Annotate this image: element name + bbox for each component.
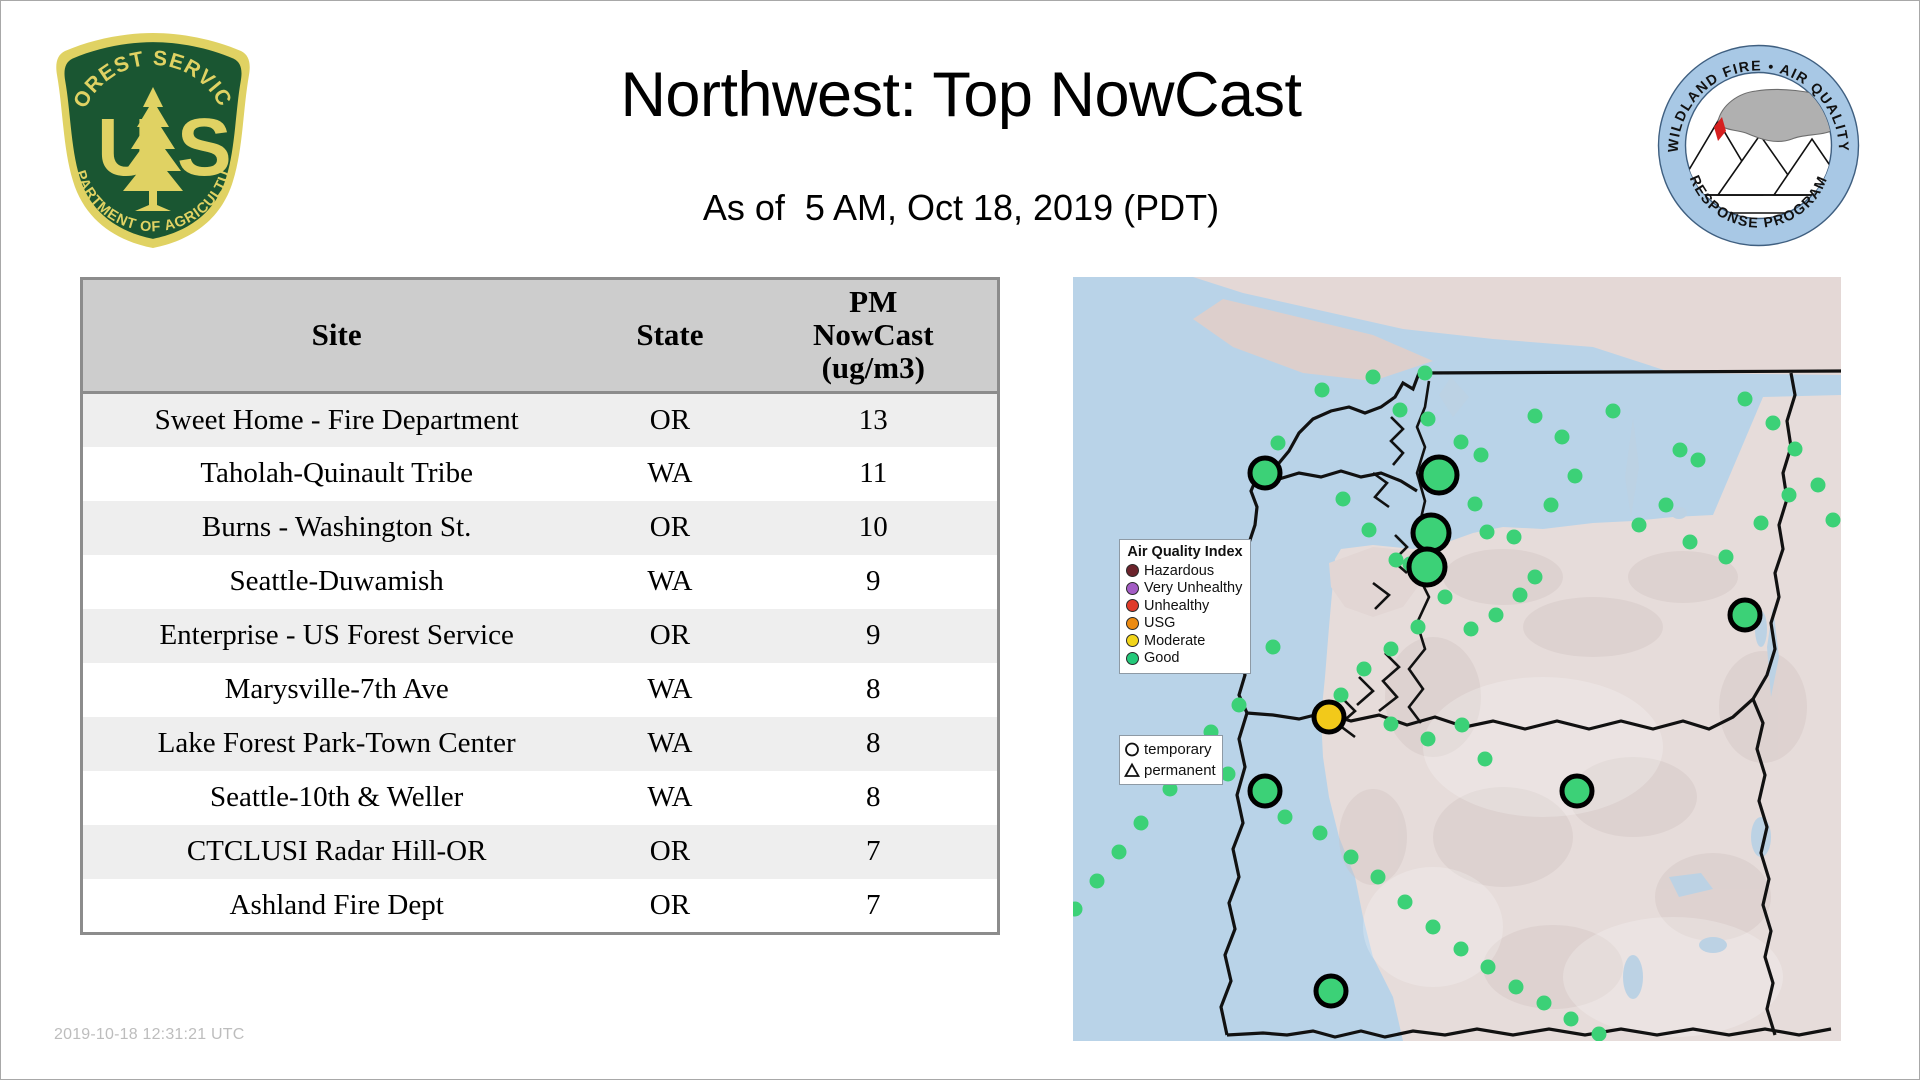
monitor-marker-good[interactable] [1811, 478, 1826, 493]
footer-timestamp: 2019-10-18 12:31:21 UTC [54, 1026, 245, 1044]
monitor-marker-good[interactable] [1507, 530, 1522, 545]
table-row: Seattle-10th & WellerWA8 [82, 771, 999, 825]
monitor-marker-good[interactable] [1344, 850, 1359, 865]
monitor-marker-good[interactable] [1537, 996, 1552, 1011]
monitor-marker-good[interactable] [1555, 430, 1570, 445]
monitor-marker-good[interactable] [1384, 717, 1399, 732]
table-row: Seattle-DuwamishWA9 [82, 555, 999, 609]
monitor-marker-good[interactable] [1232, 698, 1247, 713]
state-cell: OR [590, 392, 749, 447]
legend-row-temporary: temporary [1124, 739, 1218, 760]
nowcast-table: Site State PM NowCast (ug/m3) Sweet Home… [80, 277, 1000, 935]
aqi-legend-label: Moderate [1144, 633, 1205, 649]
monitor-marker-good[interactable] [1480, 525, 1495, 540]
table-body: Sweet Home - Fire DepartmentOR13Taholah-… [82, 392, 999, 934]
monitor-marker-good[interactable] [1528, 570, 1543, 585]
aqi-swatch-icon [1126, 652, 1139, 665]
table-row: Burns - Washington St.OR10 [82, 501, 999, 555]
aqi-swatch-icon [1126, 634, 1139, 647]
monitor-marker-good[interactable] [1474, 448, 1489, 463]
monitor-marker-good[interactable] [1568, 469, 1583, 484]
monitor-marker-good[interactable] [1426, 920, 1441, 935]
monitor-marker-good[interactable] [1313, 826, 1328, 841]
monitor-marker-good[interactable] [1421, 732, 1436, 747]
monitor-marker-good[interactable] [1393, 403, 1408, 418]
monitor-marker-good[interactable] [1362, 523, 1377, 538]
legend-row-permanent: permanent [1124, 760, 1218, 781]
monitor-marker-good[interactable] [1398, 895, 1413, 910]
site-cell: Taholah-Quinault Tribe [82, 447, 591, 501]
pm-cell: 13 [750, 392, 999, 447]
pm-cell: 8 [750, 771, 999, 825]
table-row: Ashland Fire DeptOR7 [82, 879, 999, 934]
aqi-legend-row: Very Unhealthy [1126, 580, 1244, 598]
monitor-marker-good[interactable] [1278, 810, 1293, 825]
state-cell: OR [590, 825, 749, 879]
monitor-marker-good[interactable] [1418, 366, 1433, 381]
site-cell: Ashland Fire Dept [82, 879, 591, 934]
monitor-marker-good[interactable] [1112, 845, 1127, 860]
monitor-marker-good[interactable] [1454, 942, 1469, 957]
aqi-legend-label: Hazardous [1144, 563, 1214, 579]
monitor-type-legend: temporary permanent [1119, 735, 1223, 785]
pm-cell: 9 [750, 555, 999, 609]
monitor-marker-good[interactable] [1366, 370, 1381, 385]
monitor-marker-good[interactable] [1738, 392, 1753, 407]
nowcast-table-container: Site State PM NowCast (ug/m3) Sweet Home… [80, 277, 1000, 935]
monitor-marker-good[interactable] [1454, 435, 1469, 450]
aqi-legend-label: Good [1144, 650, 1179, 666]
monitor-marker-good[interactable] [1673, 443, 1688, 458]
wildland-fire-air-quality-badge-icon: WILDLAND FIRE • AIR QUALITY RESPONSE PRO… [1656, 43, 1861, 248]
state-cell: WA [590, 717, 749, 771]
pm-cell: 9 [750, 609, 999, 663]
aqi-swatch-icon [1126, 564, 1139, 577]
pm-cell: 8 [750, 663, 999, 717]
air-quality-index-legend: Air Quality Index HazardousVery Unhealth… [1119, 539, 1251, 674]
aqi-legend-row: USG [1126, 615, 1244, 633]
pm-cell: 7 [750, 879, 999, 934]
circle-marker-icon [1124, 741, 1140, 758]
monitor-marker-good[interactable] [1438, 590, 1453, 605]
highlight-marker-marysville[interactable] [1421, 457, 1457, 493]
highlight-marker-ctclusi-radar-hill[interactable] [1250, 776, 1280, 806]
site-cell: Lake Forest Park-Town Center [82, 717, 591, 771]
monitor-marker-good[interactable] [1315, 383, 1330, 398]
monitor-marker-good[interactable] [1766, 416, 1781, 431]
site-cell: Sweet Home - Fire Department [82, 392, 591, 447]
monitor-marker-good[interactable] [1468, 497, 1483, 512]
table-head: Site State PM NowCast (ug/m3) [82, 279, 999, 393]
highlight-marker-lake-forest-park[interactable] [1413, 515, 1449, 551]
state-cell: OR [590, 879, 749, 934]
state-cell: WA [590, 447, 749, 501]
aqi-legend-label: Unhealthy [1144, 598, 1209, 614]
table-row: Marysville-7th AveWA8 [82, 663, 999, 717]
monitor-marker-good[interactable] [1788, 442, 1803, 457]
monitor-marker-good[interactable] [1334, 688, 1349, 703]
monitor-marker-good[interactable] [1544, 498, 1559, 513]
legend-label-temporary: temporary [1144, 741, 1212, 758]
monitor-marker-good[interactable] [1592, 1027, 1607, 1042]
aqi-swatch-icon [1126, 582, 1139, 595]
monitor-marker-good[interactable] [1266, 640, 1281, 655]
monitor-marker-good[interactable] [1564, 1012, 1579, 1027]
aqi-swatch-icon [1126, 617, 1139, 630]
pm-header-line-2: NowCast [754, 319, 993, 352]
highlight-marker-ashland[interactable] [1316, 976, 1346, 1006]
site-cell: Marysville-7th Ave [82, 663, 591, 717]
monitor-marker-good[interactable] [1489, 608, 1504, 623]
state-cell: WA [590, 555, 749, 609]
aqi-legend-row: Hazardous [1126, 562, 1244, 580]
page-subtitle: As of 5 AM, Oct 18, 2019 (PDT) [301, 187, 1621, 229]
aqi-legend-row: Moderate [1126, 632, 1244, 650]
site-cell: Seattle-Duwamish [82, 555, 591, 609]
site-cell: CTCLUSI Radar Hill-OR [82, 825, 591, 879]
state-cell: OR [590, 609, 749, 663]
monitor-marker-good[interactable] [1271, 436, 1286, 451]
pm-cell: 7 [750, 825, 999, 879]
table-row: Enterprise - US Forest ServiceOR9 [82, 609, 999, 663]
monitor-marker-good[interactable] [1509, 980, 1524, 995]
table-header-row: Site State PM NowCast (ug/m3) [82, 279, 999, 393]
site-cell: Burns - Washington St. [82, 501, 591, 555]
monitor-marker-good[interactable] [1090, 874, 1105, 889]
monitor-marker-good[interactable] [1513, 588, 1528, 603]
aqi-legend-label: Very Unhealthy [1144, 580, 1242, 596]
column-header-site: Site [82, 279, 591, 393]
column-header-state: State [590, 279, 749, 393]
monitor-marker-good[interactable] [1691, 453, 1706, 468]
site-cell: Seattle-10th & Weller [82, 771, 591, 825]
pm-cell: 11 [750, 447, 999, 501]
forest-service-shield-icon: FOREST SERVICE U S DEPARTMENT OF AGRICUL… [53, 29, 253, 251]
site-cell: Enterprise - US Forest Service [82, 609, 591, 663]
highlight-marker-taholah-quinault[interactable] [1250, 458, 1280, 488]
monitor-marker-good[interactable] [1528, 409, 1543, 424]
aqi-legend-row: Unhealthy [1126, 597, 1244, 615]
state-cell: OR [590, 501, 749, 555]
state-cell: WA [590, 663, 749, 717]
monitor-marker-good[interactable] [1421, 412, 1436, 427]
triangle-marker-icon [1124, 762, 1140, 779]
monitor-marker-good[interactable] [1371, 870, 1386, 885]
monitor-marker-good[interactable] [1659, 498, 1674, 513]
monitor-marker-good[interactable] [1826, 513, 1841, 528]
column-header-pm-nowcast: PM NowCast (ug/m3) [750, 279, 999, 393]
pm-cell: 8 [750, 717, 999, 771]
monitor-marker-good[interactable] [1384, 642, 1399, 657]
monitor-marker-good[interactable] [1481, 960, 1496, 975]
aqi-swatch-icon [1126, 599, 1139, 612]
monitor-marker-good[interactable] [1134, 816, 1149, 831]
pm-cell: 10 [750, 501, 999, 555]
table-row: Lake Forest Park-Town CenterWA8 [82, 717, 999, 771]
monitor-marker-good[interactable] [1719, 550, 1734, 565]
monitor-marker-good[interactable] [1754, 516, 1769, 531]
monitor-marker-good[interactable] [1411, 620, 1426, 635]
monitor-marker-good[interactable] [1389, 553, 1404, 568]
monitor-marker-good[interactable] [1357, 662, 1372, 677]
table-row: Sweet Home - Fire DepartmentOR13 [82, 392, 999, 447]
monitor-marker-good[interactable] [1478, 752, 1493, 767]
monitor-marker-good[interactable] [1632, 518, 1647, 533]
highlight-marker-seattle[interactable] [1409, 549, 1445, 585]
monitor-marker-good[interactable] [1336, 492, 1351, 507]
monitor-marker-good[interactable] [1455, 718, 1470, 733]
highlight-marker-sweet-home[interactable] [1314, 702, 1344, 732]
pm-header-line-1: PM [754, 286, 993, 319]
monitor-marker-good[interactable] [1782, 488, 1797, 503]
aqi-legend-row: Good [1126, 650, 1244, 668]
highlight-marker-enterprise[interactable] [1730, 600, 1760, 630]
page-title: Northwest: Top NowCast [301, 59, 1621, 131]
aqi-legend-rows: HazardousVery UnhealthyUnhealthyUSGModer… [1126, 562, 1244, 667]
highlight-marker-burns[interactable] [1562, 776, 1592, 806]
table-row: Taholah-Quinault TribeWA11 [82, 447, 999, 501]
table-row: CTCLUSI Radar Hill-OROR7 [82, 825, 999, 879]
monitor-marker-good[interactable] [1606, 404, 1621, 419]
monitor-marker-good[interactable] [1464, 622, 1479, 637]
slide-root: FOREST SERVICE U S DEPARTMENT OF AGRICUL… [0, 0, 1920, 1080]
state-cell: WA [590, 771, 749, 825]
aqi-legend-title: Air Quality Index [1126, 544, 1244, 560]
pm-header-line-3: (ug/m3) [754, 352, 993, 385]
monitor-marker-good[interactable] [1683, 535, 1698, 550]
legend-label-permanent: permanent [1144, 762, 1216, 779]
aqi-legend-label: USG [1144, 615, 1175, 631]
